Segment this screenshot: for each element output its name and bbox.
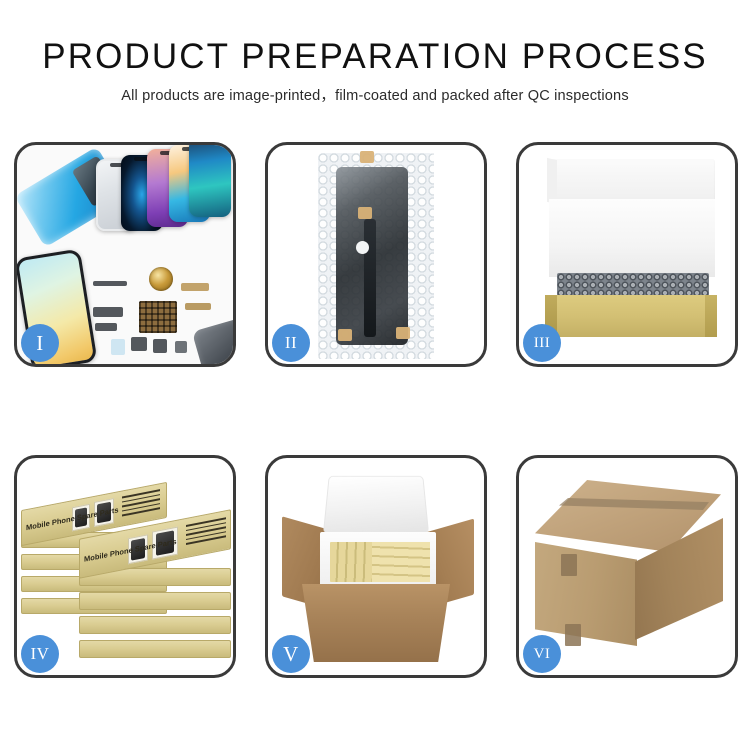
part-flex-gold [181,283,209,291]
process-step-panel-3[interactable]: III [516,142,738,367]
phone-back-housing [192,309,233,364]
page-title: PRODUCT PREPARATION PROCESS [0,36,750,78]
stacked-box-br-5 [79,640,231,658]
step-badge-1: I [21,324,59,362]
process-step-panel-2[interactable]: II [265,142,487,367]
process-step-panel-5[interactable]: V [265,455,487,678]
part-shield [131,337,147,351]
foam-lid [323,476,429,534]
tape-bottom-right [396,327,410,339]
part-flex-cable [185,303,211,310]
stacked-box-br-4 [79,616,231,634]
kraft-box-wall [545,295,717,337]
white-marker-dot [356,241,369,254]
carton-body [302,584,450,662]
carton-tab-upper [561,554,577,576]
stacked-box-br-3 [79,592,231,610]
tape-middle [358,207,372,219]
phone-screen-teal [189,145,231,217]
speaker-coil [149,267,173,291]
spare-parts-cluster [93,267,233,364]
part-strip [93,281,127,286]
process-step-panel-4[interactable]: Mobile Phone Spare Parts Mobile Phone Sp… [14,455,236,678]
carton-tab-lower [565,624,581,646]
logic-chip [139,301,177,333]
page-header: PRODUCT PREPARATION PROCESS All products… [0,0,750,105]
foam-backing [549,199,715,277]
box-lid-white [549,159,715,203]
carton-front-face [535,542,637,646]
tape-bottom-left [338,329,352,341]
step-badge-4: IV [21,635,59,673]
step-badge-2: II [272,324,310,362]
part-clip [95,323,117,331]
screen-flex-tail [364,219,376,337]
part-button [175,341,187,353]
tape-top [360,151,374,163]
page-subtitle: All products are image-printed，film-coat… [0,87,750,105]
process-step-panel-6[interactable]: VI [516,455,738,678]
inner-kraft-boxes-row-2 [372,542,430,582]
bubble-wrap-sleeve [318,153,434,359]
step-badge-6: VI [523,635,561,673]
step-badge-5: V [272,635,310,673]
part-camera-module [153,339,167,353]
process-step-panel-1[interactable]: I [14,142,236,367]
part-glass-chip [111,339,125,355]
retail-box-stack: Mobile Phone Spare Parts Mobile Phone Sp… [21,472,233,668]
step-badge-3: III [523,324,561,362]
box-spec-lines-left [122,489,160,519]
box-spec-lines-right [186,517,226,547]
process-step-grid: I II III [14,142,738,678]
part-bracket [93,307,123,317]
